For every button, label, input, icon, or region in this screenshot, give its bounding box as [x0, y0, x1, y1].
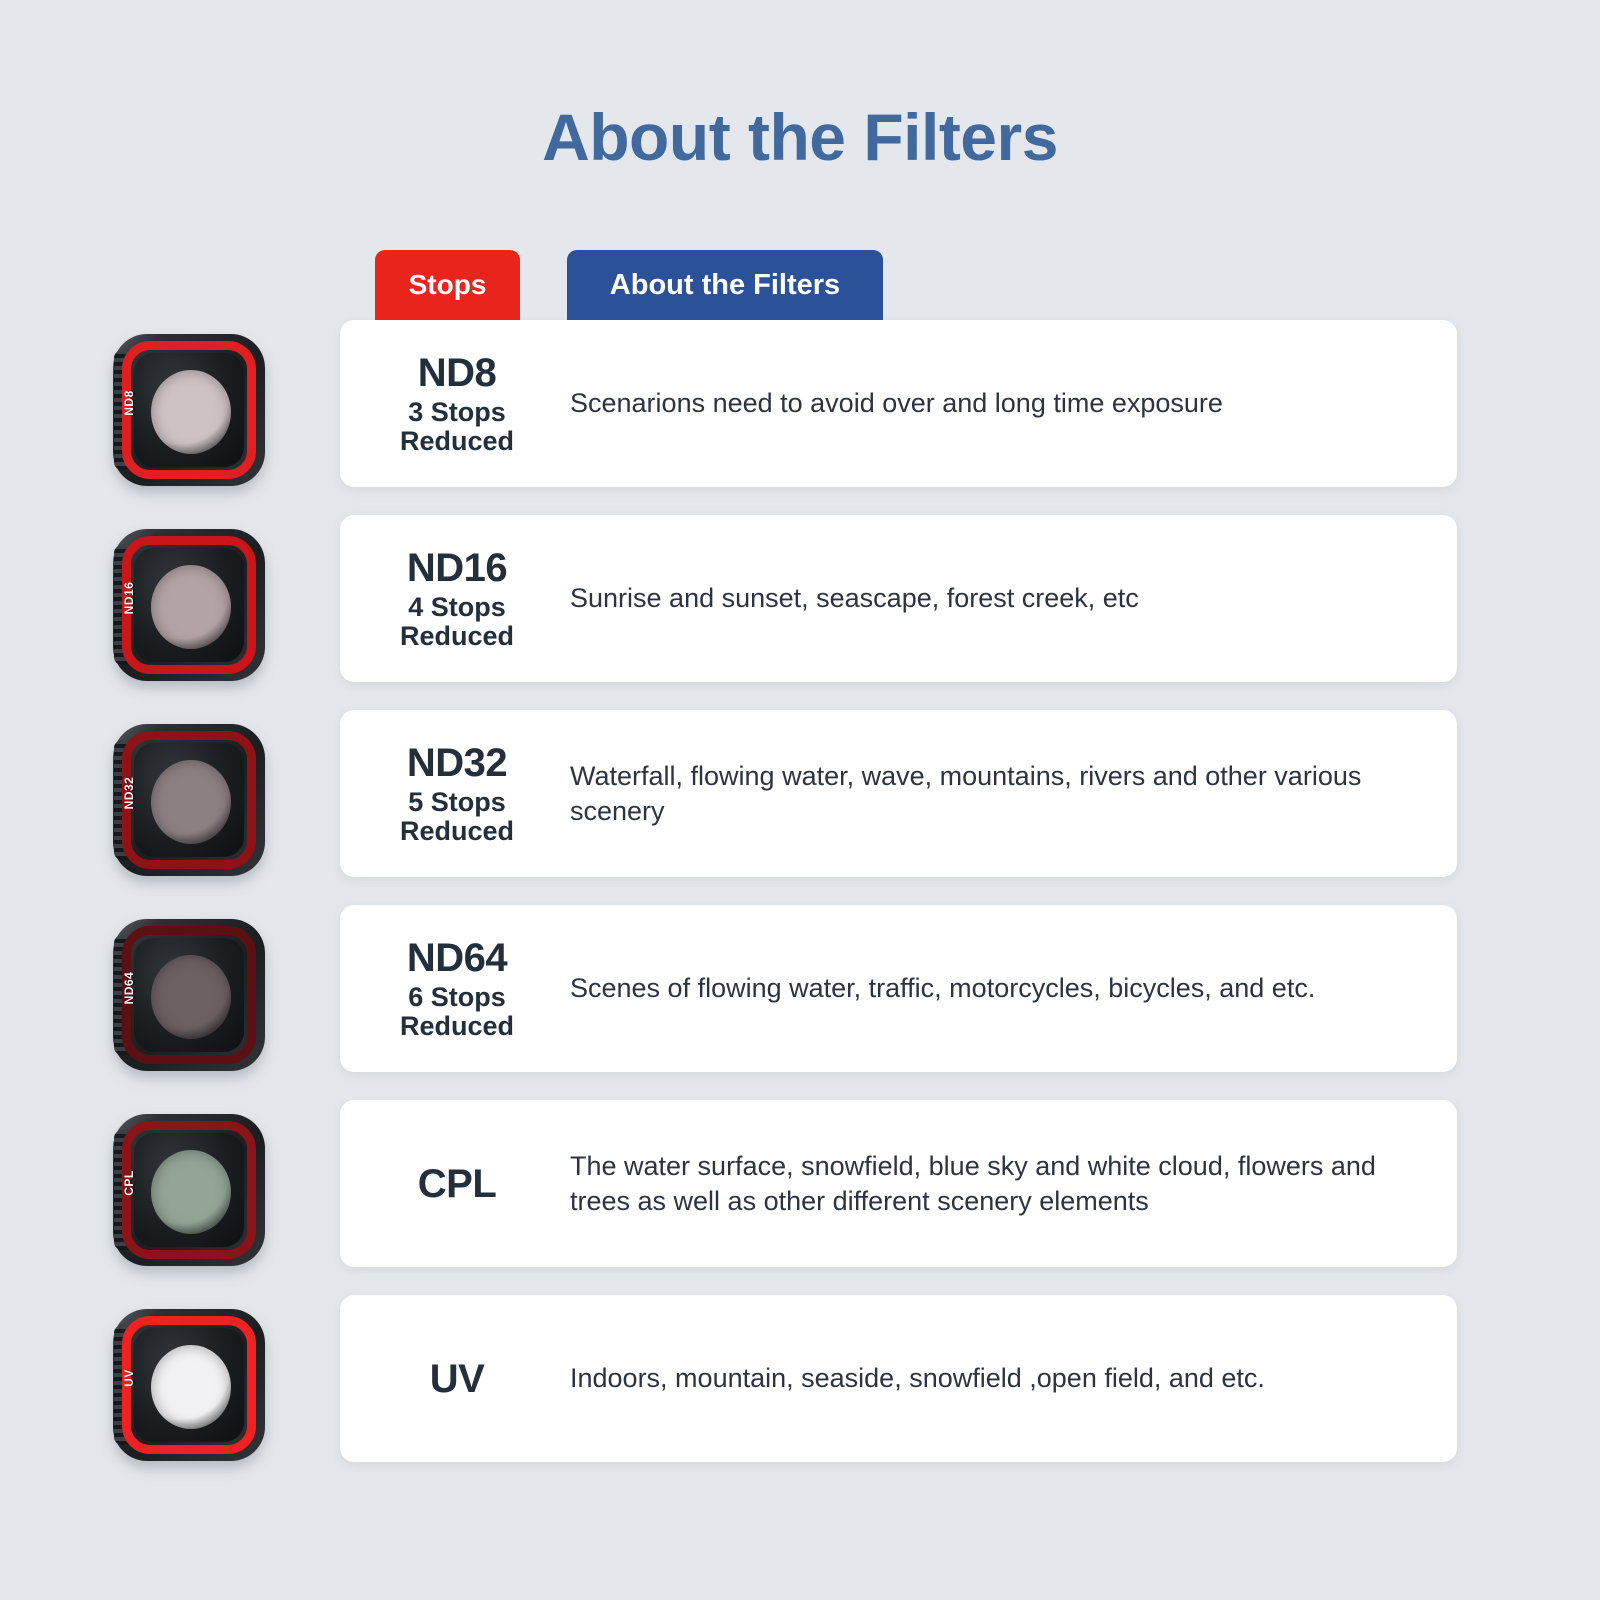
lens-glass: [151, 760, 231, 844]
filter-image-label: ND64: [122, 960, 136, 1016]
filter-row: ND16ND164 StopsReducedSunrise and sunset…: [0, 515, 1600, 682]
lens-glass: [151, 1345, 231, 1429]
stops-reduction: 5 StopsReduced: [346, 788, 568, 845]
stops-line-2: Reduced: [346, 622, 568, 650]
filter-description: Scenes of flowing water, traffic, motorc…: [568, 971, 1457, 1005]
tab-about-the-filters[interactable]: About the Filters: [567, 250, 883, 320]
filter-rows-list: ND8ND83 StopsReducedScenarions need to a…: [0, 320, 1600, 1490]
filter-image-label: ND8: [122, 375, 136, 431]
lens-glass: [151, 1150, 231, 1234]
stops-reduction: 3 StopsReduced: [346, 398, 568, 455]
filter-description: Indoors, mountain, seaside, snowfield ,o…: [568, 1361, 1457, 1395]
stops-line-1: 3 Stops: [346, 398, 568, 426]
filter-image-label: CPL: [122, 1155, 136, 1211]
filter-row: ND64ND646 StopsReducedScenes of flowing …: [0, 905, 1600, 1072]
stops-cell: ND83 StopsReduced: [340, 352, 568, 455]
filter-name: ND64: [346, 937, 568, 979]
stops-cell: ND646 StopsReduced: [340, 937, 568, 1040]
filter-description: Scenarions need to avoid over and long t…: [568, 386, 1457, 420]
stops-line-2: Reduced: [346, 1012, 568, 1040]
stops-cell: ND164 StopsReduced: [340, 547, 568, 650]
stops-line-1: 5 Stops: [346, 788, 568, 816]
filter-card[interactable]: ND325 StopsReducedWaterfall, flowing wat…: [340, 710, 1457, 877]
stops-line-2: Reduced: [346, 427, 568, 455]
filter-name: CPL: [346, 1163, 568, 1205]
filter-card[interactable]: ND83 StopsReducedScenarions need to avoi…: [340, 320, 1457, 487]
filter-product-image: ND8: [113, 334, 265, 486]
stops-line-1: 4 Stops: [346, 593, 568, 621]
filter-row: UVUVIndoors, mountain, seaside, snowfiel…: [0, 1295, 1600, 1462]
stops-reduction: 4 StopsReduced: [346, 593, 568, 650]
table-header-tabs: Stops About the Filters: [375, 250, 883, 320]
stops-cell: CPL: [340, 1163, 568, 1205]
filter-name: UV: [346, 1358, 568, 1400]
filter-product-image: ND16: [113, 529, 265, 681]
filter-card[interactable]: ND646 StopsReducedScenes of flowing wate…: [340, 905, 1457, 1072]
filter-product-image: UV: [113, 1309, 265, 1461]
filter-product-image: ND32: [113, 724, 265, 876]
filter-product-image: CPL: [113, 1114, 265, 1266]
filter-description: Sunrise and sunset, seascape, forest cre…: [568, 581, 1457, 615]
filter-row: ND8ND83 StopsReducedScenarions need to a…: [0, 320, 1600, 487]
filter-description: The water surface, snowfield, blue sky a…: [568, 1149, 1457, 1217]
filter-row: ND32ND325 StopsReducedWaterfall, flowing…: [0, 710, 1600, 877]
tab-about-label: About the Filters: [610, 269, 840, 302]
lens-glass: [151, 370, 231, 454]
filter-name: ND8: [346, 352, 568, 394]
stops-line-1: 6 Stops: [346, 983, 568, 1011]
filter-image-label: UV: [122, 1350, 136, 1406]
page-title: About the Filters: [0, 104, 1600, 170]
filter-card[interactable]: UVIndoors, mountain, seaside, snowfield …: [340, 1295, 1457, 1462]
filter-name: ND16: [346, 547, 568, 589]
filter-image-label: ND32: [122, 765, 136, 821]
filter-description: Waterfall, flowing water, wave, mountain…: [568, 759, 1457, 827]
tab-stops-label: Stops: [409, 269, 487, 301]
lens-glass: [151, 565, 231, 649]
stops-cell: UV: [340, 1358, 568, 1400]
stops-cell: ND325 StopsReduced: [340, 742, 568, 845]
filter-card[interactable]: ND164 StopsReducedSunrise and sunset, se…: [340, 515, 1457, 682]
filter-row: CPLCPLThe water surface, snowfield, blue…: [0, 1100, 1600, 1267]
filter-product-image: ND64: [113, 919, 265, 1071]
filter-name: ND32: [346, 742, 568, 784]
tab-stops[interactable]: Stops: [375, 250, 520, 320]
stops-reduction: 6 StopsReduced: [346, 983, 568, 1040]
filter-image-label: ND16: [122, 570, 136, 626]
stops-line-2: Reduced: [346, 817, 568, 845]
filter-card[interactable]: CPLThe water surface, snowfield, blue sk…: [340, 1100, 1457, 1267]
lens-glass: [151, 955, 231, 1039]
